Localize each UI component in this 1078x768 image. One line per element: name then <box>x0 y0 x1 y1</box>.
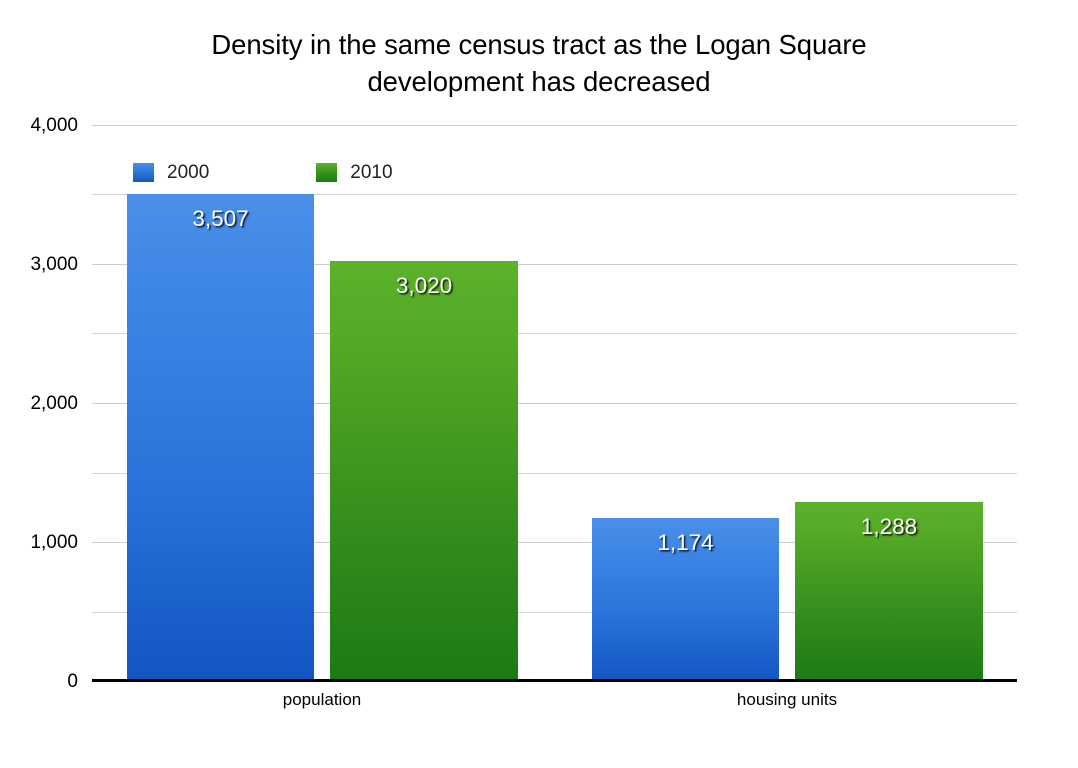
y-axis-label-3000: 3,000 <box>0 254 78 276</box>
legend-swatch-2010-icon <box>316 163 337 182</box>
legend-item-2010[interactable]: 2010 <box>316 163 392 182</box>
plot-area: 3,507 3,020 1,174 1,288 <box>92 125 1017 681</box>
bar-value-label: 1,174 <box>592 530 779 556</box>
x-axis-label-housing-units: housing units <box>557 690 1017 710</box>
y-axis-label-1000: 1,000 <box>0 532 78 554</box>
y-axis-label-4000: 4,000 <box>0 115 78 137</box>
chart-title-line-2: development has decreased <box>0 63 1078 100</box>
bar-value-label: 3,020 <box>330 273 518 299</box>
bar-value-label: 1,288 <box>795 514 983 540</box>
legend-label-2010: 2010 <box>350 163 392 182</box>
bar-population-2000[interactable]: 3,507 <box>127 194 314 681</box>
x-axis-line <box>92 679 1017 682</box>
x-axis-label-population: population <box>92 690 552 710</box>
bar-population-2010[interactable]: 3,020 <box>330 261 518 681</box>
legend-label-2000: 2000 <box>167 163 209 182</box>
gridline-4000 <box>92 125 1017 126</box>
chart-container: Density in the same census tract as the … <box>0 0 1078 768</box>
chart-title: Density in the same census tract as the … <box>0 26 1078 100</box>
y-axis-label-0: 0 <box>0 671 78 693</box>
bar-housing-units-2000[interactable]: 1,174 <box>592 518 779 681</box>
bar-housing-units-2010[interactable]: 1,288 <box>795 502 983 681</box>
legend-item-2000[interactable]: 2000 <box>133 163 209 182</box>
legend-swatch-2000-icon <box>133 163 154 182</box>
chart-legend: 2000 2010 <box>133 163 393 182</box>
y-axis-label-2000: 2,000 <box>0 393 78 415</box>
bar-value-label: 3,507 <box>127 206 314 232</box>
chart-title-line-1: Density in the same census tract as the … <box>0 26 1078 63</box>
